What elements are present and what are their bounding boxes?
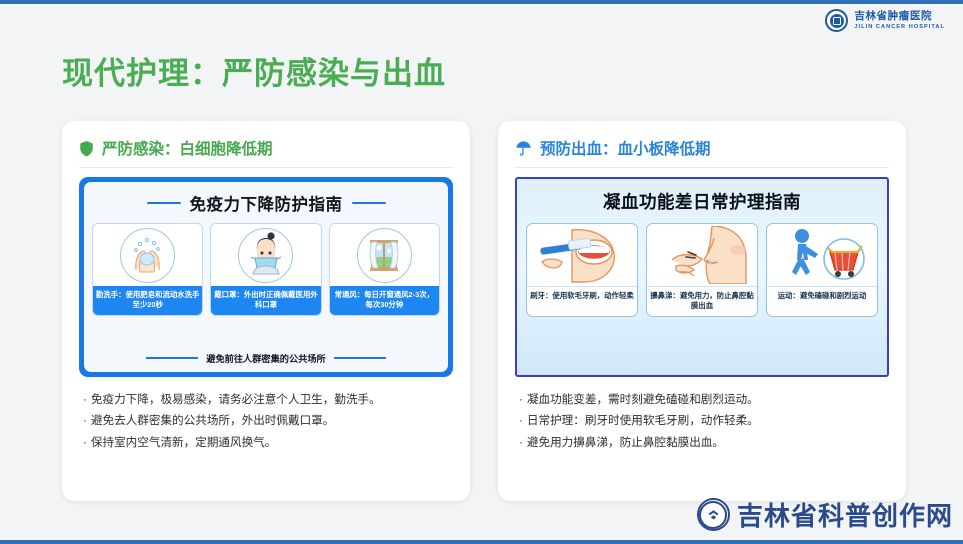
top-accent-bar [0,0,963,4]
person-wearing-mask-icon [241,230,291,280]
infographic-coagulation: 凝血功能差日常护理指南 [515,177,889,377]
hospital-name-cn: 吉林省肿瘤医院 [854,11,945,23]
cards-container: 严防感染：白细胞降低期 免疫力下降防护指南 [62,121,907,501]
card-right-title: 预防出血：血小板降低期 [540,137,711,159]
toothbrush-icon [532,226,632,284]
bullet-item: ·日常护理：刷牙时使用软毛牙刷，动作轻柔。 [519,410,887,431]
panel-wash-hands: 勤洗手：使用肥皂和流动水洗手至少20秒 [92,223,203,316]
bullet-item: ·避免用力擤鼻涕，防止鼻腔黏膜出血。 [519,432,887,453]
shield-icon [79,140,94,157]
hospital-logo: 吉林省肿瘤医院 JILIN CANCER HOSPITAL [825,9,945,32]
panel-art [211,224,320,286]
infographic-left-title: 免疫力下降防护指南 [190,191,343,215]
bullet-text: 避免去人群密集的公共场所，外出时佩戴口罩。 [91,410,334,431]
infographic-left-footer-row: 避免前往人群密集的公共场所 [92,347,440,365]
panel-art [330,224,439,286]
infographic-right-panels: 刷牙：使用软毛牙刷，动作轻柔 [526,223,878,317]
panel-caption: 戴口罩：外出时正确佩戴医用外科口罩 [211,286,320,315]
panel-art [767,224,877,286]
umbrella-icon [515,140,532,157]
nose-blowing-icon [652,226,752,284]
hospital-emblem-icon [825,9,848,32]
card-left-bullets: ·免疫力下降，极易感染，请务必注意个人卫生，勤洗手。 ·避免去人群密集的公共场所… [79,377,453,453]
card-left-divider [79,167,453,168]
card-bleeding-prevention: 预防出血：血小板降低期 凝血功能差日常护理指南 [498,121,906,501]
hospital-name-en: JILIN CANCER HOSPITAL [854,24,945,30]
card-left-title: 严防感染：白细胞降低期 [102,137,273,159]
panel-art [647,224,757,286]
bullet-text: 免疫力下降，极易感染，请务必注意个人卫生，勤洗手。 [91,389,381,410]
footer-left-dash-icon [146,357,198,359]
bullet-item: ·免疫力下降，极易感染，请务必注意个人卫生，勤洗手。 [83,389,451,410]
panel-caption: 擤鼻涕：避免用力，防止鼻腔黏膜出血 [647,286,757,316]
bullet-item: ·凝血功能变差，需时刻避免磕碰和剧烈运动。 [519,389,887,410]
slide-canvas: 吉林省肿瘤医院 JILIN CANCER HOSPITAL 现代护理：严防感染与… [0,0,963,544]
science-popularization-emblem-icon [697,498,730,531]
card-right-bullets: ·凝血功能变差，需时刻避免磕碰和剧烈运动。 ·日常护理：刷牙时使用软毛牙刷，动作… [515,377,889,453]
infographic-left-panels: 勤洗手：使用肥皂和流动水洗手至少20秒 [92,223,440,316]
panel-caption: 常通风：每日开窗通风2-3次，每次30分钟 [330,286,439,315]
infographic-left-footer: 避免前往人群密集的公共场所 [206,351,325,365]
panel-exercise: 运动：避免磕碰和剧烈运动 [766,223,878,317]
panel-blow-nose: 擤鼻涕：避免用力，防止鼻腔黏膜出血 [646,223,758,317]
footer-right-dash-icon [334,357,386,359]
infographic-right-title: 凝血功能差日常护理指南 [526,189,878,214]
infographic-immunity: 免疫力下降防护指南 [79,177,453,377]
watermark-text: 吉林省科普创作网 [737,496,953,533]
panel-art [527,224,637,286]
card-infection-prevention: 严防感染：白细胞降低期 免疫力下降防护指南 [62,121,470,501]
right-dash-icon [352,202,386,204]
panel-brush-teeth: 刷牙：使用软毛牙刷，动作轻柔 [526,223,638,317]
left-dash-icon [147,202,181,204]
card-right-header: 预防出血：血小板降低期 [515,137,889,167]
panel-caption: 运动：避免磕碰和剧烈运动 [767,286,877,306]
watermark: 吉林省科普创作网 [683,491,963,538]
panel-caption: 勤洗手：使用肥皂和流动水洗手至少20秒 [93,286,202,315]
bullet-text: 保持室内空气清新，定期通风换气。 [91,432,277,453]
washing-hands-icon [123,230,173,280]
card-left-header: 严防感染：白细胞降低期 [79,137,453,167]
bullet-item: ·保持室内空气清新，定期通风换气。 [83,432,451,453]
walking-person-cart-icon [772,226,872,284]
panel-art [93,224,202,286]
bullet-item: ·避免去人群密集的公共场所，外出时佩戴口罩。 [83,410,451,431]
bullet-text: 日常护理：刷牙时使用软毛牙刷，动作轻柔。 [527,410,759,431]
open-window-icon [359,230,409,280]
panel-caption: 刷牙：使用软毛牙刷，动作轻柔 [527,286,637,306]
page-title: 现代护理：严防感染与出血 [62,48,446,93]
bullet-text: 凝血功能变差，需时刻避免磕碰和剧烈运动。 [527,389,759,410]
panel-ventilation: 常通风：每日开窗通风2-3次，每次30分钟 [329,223,440,316]
bottom-accent-bar [0,540,963,544]
infographic-left-title-row: 免疫力下降防护指南 [92,191,440,215]
bullet-text: 避免用力擤鼻涕，防止鼻腔黏膜出血。 [527,432,724,453]
card-right-divider [515,167,889,168]
panel-wear-mask: 戴口罩：外出时正确佩戴医用外科口罩 [210,223,321,316]
